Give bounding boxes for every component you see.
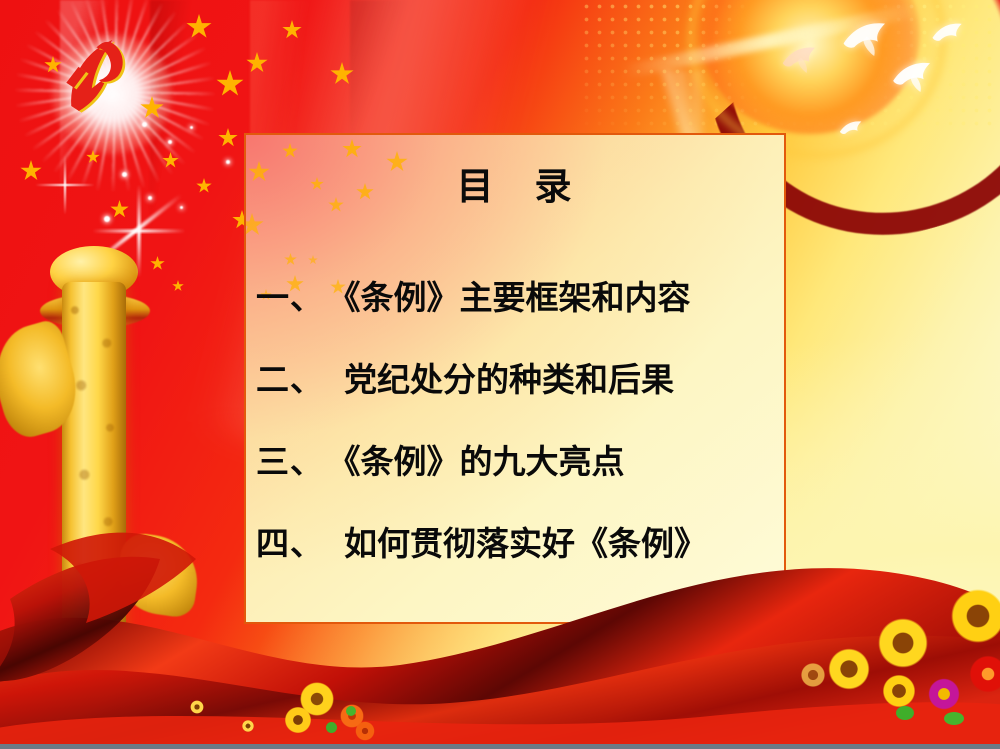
dove-icon bbox=[890, 58, 938, 94]
party-emblem-icon bbox=[44, 22, 152, 130]
magenta-flower-icon bbox=[922, 672, 966, 716]
sunflower-icon bbox=[188, 698, 206, 716]
sunflower-icon bbox=[280, 702, 316, 738]
sparkle bbox=[142, 122, 147, 127]
dove-icon bbox=[838, 118, 866, 140]
sunflower-icon bbox=[796, 658, 830, 692]
star-flare bbox=[30, 150, 100, 220]
sparkle bbox=[226, 160, 230, 164]
red-silk-ribbon bbox=[0, 489, 1000, 749]
sparkle bbox=[168, 140, 172, 144]
leaf-icon bbox=[944, 712, 964, 725]
sunflower-icon bbox=[240, 718, 256, 734]
toc-item-number: 一、 bbox=[256, 278, 324, 317]
toc-item-2[interactable]: 二、党纪处分的种类和后果 bbox=[256, 360, 788, 442]
toc-item-label: 《条例》的九大亮点 bbox=[344, 442, 625, 481]
gold-star bbox=[308, 255, 318, 265]
toc-item-number: 三、 bbox=[256, 442, 324, 481]
page-title: 目 录 bbox=[246, 156, 784, 210]
leaf-icon bbox=[346, 706, 356, 716]
window-bottom-edge bbox=[0, 744, 1000, 749]
dove-icon bbox=[930, 20, 968, 48]
toc-item-label: 《条例》主要框架和内容 bbox=[344, 278, 691, 317]
star-flare bbox=[84, 176, 194, 286]
dove-icon bbox=[780, 42, 822, 76]
leaf-icon bbox=[896, 706, 914, 720]
leaf-icon bbox=[326, 722, 337, 733]
toc-item-label: 党纪处分的种类和后果 bbox=[344, 360, 674, 399]
toc-item-1[interactable]: 一、《条例》主要框架和内容 bbox=[256, 278, 788, 360]
gold-star bbox=[246, 213, 264, 237]
presentation-slide: 目 录 一、《条例》主要框架和内容 二、党纪处分的种类和后果 三、《条例》的九大… bbox=[0, 0, 1000, 749]
orange-flower-icon bbox=[352, 718, 378, 744]
dove-icon bbox=[840, 18, 894, 58]
gold-star bbox=[284, 253, 297, 266]
sparkle bbox=[190, 126, 193, 129]
ribbon-decoration bbox=[0, 489, 1000, 749]
toc-item-number: 二、 bbox=[256, 360, 324, 399]
